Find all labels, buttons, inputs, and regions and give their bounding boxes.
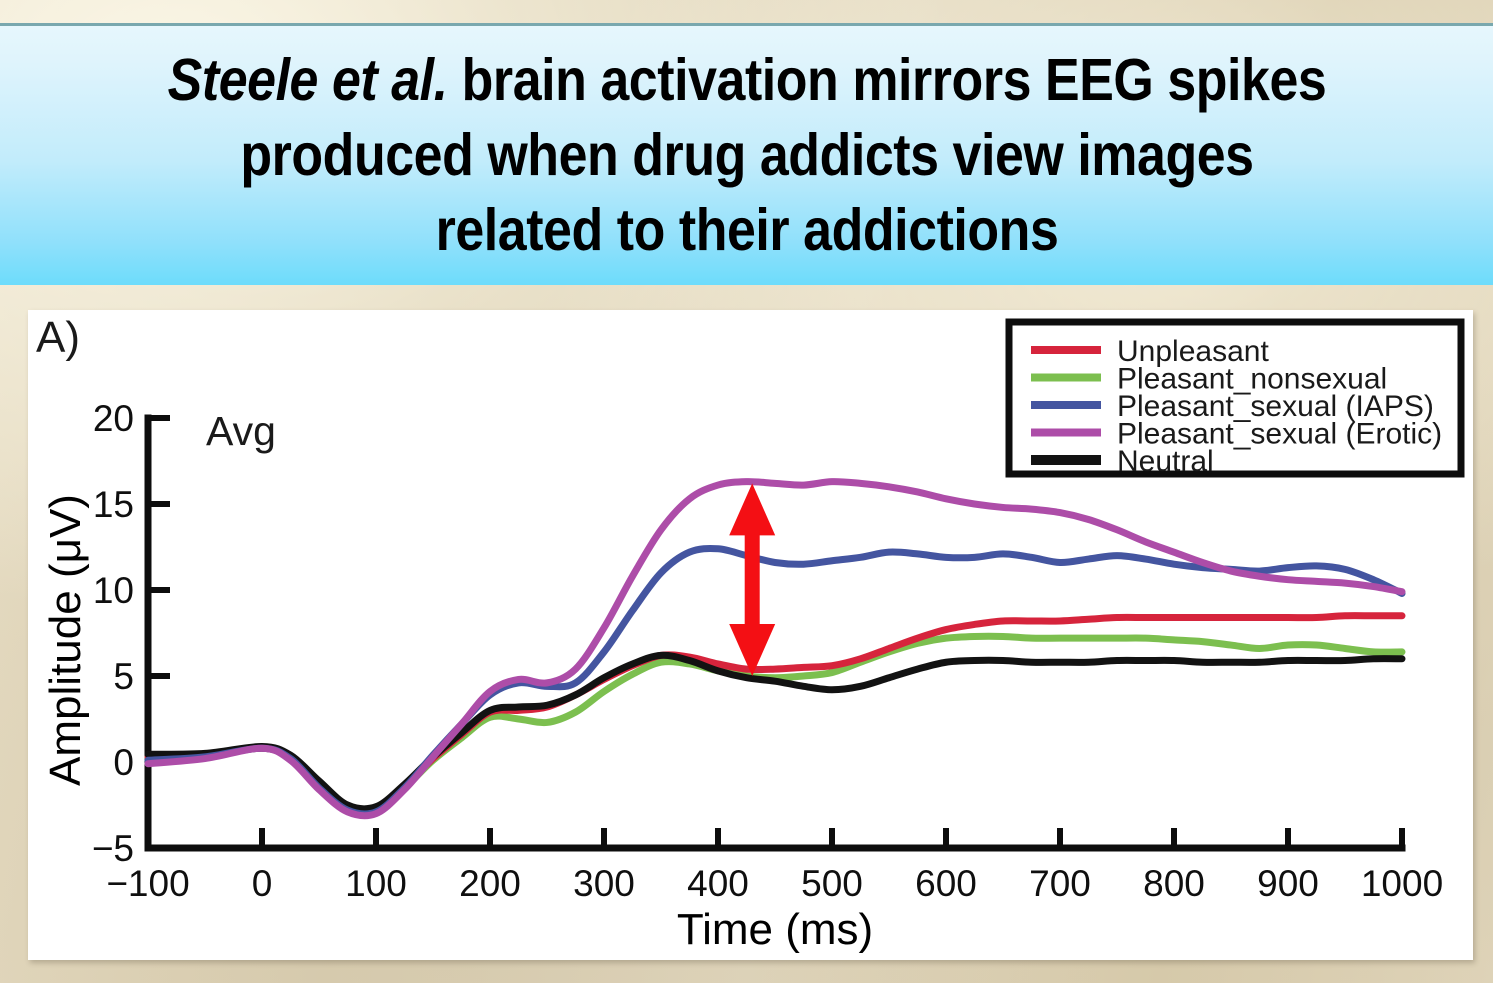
x-tick-label-800: 800 bbox=[1143, 863, 1205, 904]
x-tick-label-1000: 1000 bbox=[1361, 863, 1443, 904]
panel-label: A) bbox=[36, 313, 80, 362]
x-tick-label-400: 400 bbox=[687, 863, 749, 904]
x-tick-label-300: 300 bbox=[573, 863, 635, 904]
y-tick-label-5: 5 bbox=[113, 656, 134, 697]
figure-panel: A) Avg −505101520 −100010020030040050060… bbox=[28, 310, 1473, 960]
x-tick-label-200: 200 bbox=[459, 863, 521, 904]
chart-legend: UnpleasantPleasant_nonsexualPleasant_sex… bbox=[1009, 322, 1461, 478]
x-tick-label-100: 100 bbox=[345, 863, 407, 904]
y-tick-label-20: 20 bbox=[93, 398, 134, 439]
x-tick-label-0: 0 bbox=[252, 863, 273, 904]
legend-label-4: Neutral bbox=[1117, 445, 1214, 478]
slide-title: Steele et al. brain activation mirrors E… bbox=[157, 43, 1336, 268]
slide-title-italic: Steele et al. bbox=[167, 47, 447, 113]
x-tick-label--100: −100 bbox=[106, 863, 189, 904]
y-axis-tick-labels: −505101520 bbox=[92, 398, 134, 869]
x-axis-title: Time (ms) bbox=[677, 905, 873, 954]
difference-arrow-shape bbox=[729, 483, 775, 676]
chart-traces bbox=[148, 482, 1402, 816]
x-axis-tick-labels: −10001002003004005006007008009001000 bbox=[106, 863, 1443, 904]
avg-annotation: Avg bbox=[206, 408, 276, 454]
y-axis-title: Amplitude (μV) bbox=[41, 494, 90, 786]
x-tick-label-900: 900 bbox=[1257, 863, 1319, 904]
y-tick-label-0: 0 bbox=[113, 742, 134, 783]
trace-neutral bbox=[148, 655, 1402, 809]
erp-waveform-chart: A) Avg −505101520 −100010020030040050060… bbox=[28, 310, 1473, 960]
trace-pleasant-sexual-erotic bbox=[148, 482, 1402, 816]
title-banner: Steele et al. brain activation mirrors E… bbox=[0, 23, 1493, 285]
amplitude-difference-arrow bbox=[729, 483, 775, 676]
x-tick-label-500: 500 bbox=[801, 863, 863, 904]
y-tick-label-10: 10 bbox=[93, 570, 134, 611]
x-tick-label-700: 700 bbox=[1029, 863, 1091, 904]
y-tick-label-15: 15 bbox=[93, 484, 134, 525]
x-tick-label-600: 600 bbox=[915, 863, 977, 904]
